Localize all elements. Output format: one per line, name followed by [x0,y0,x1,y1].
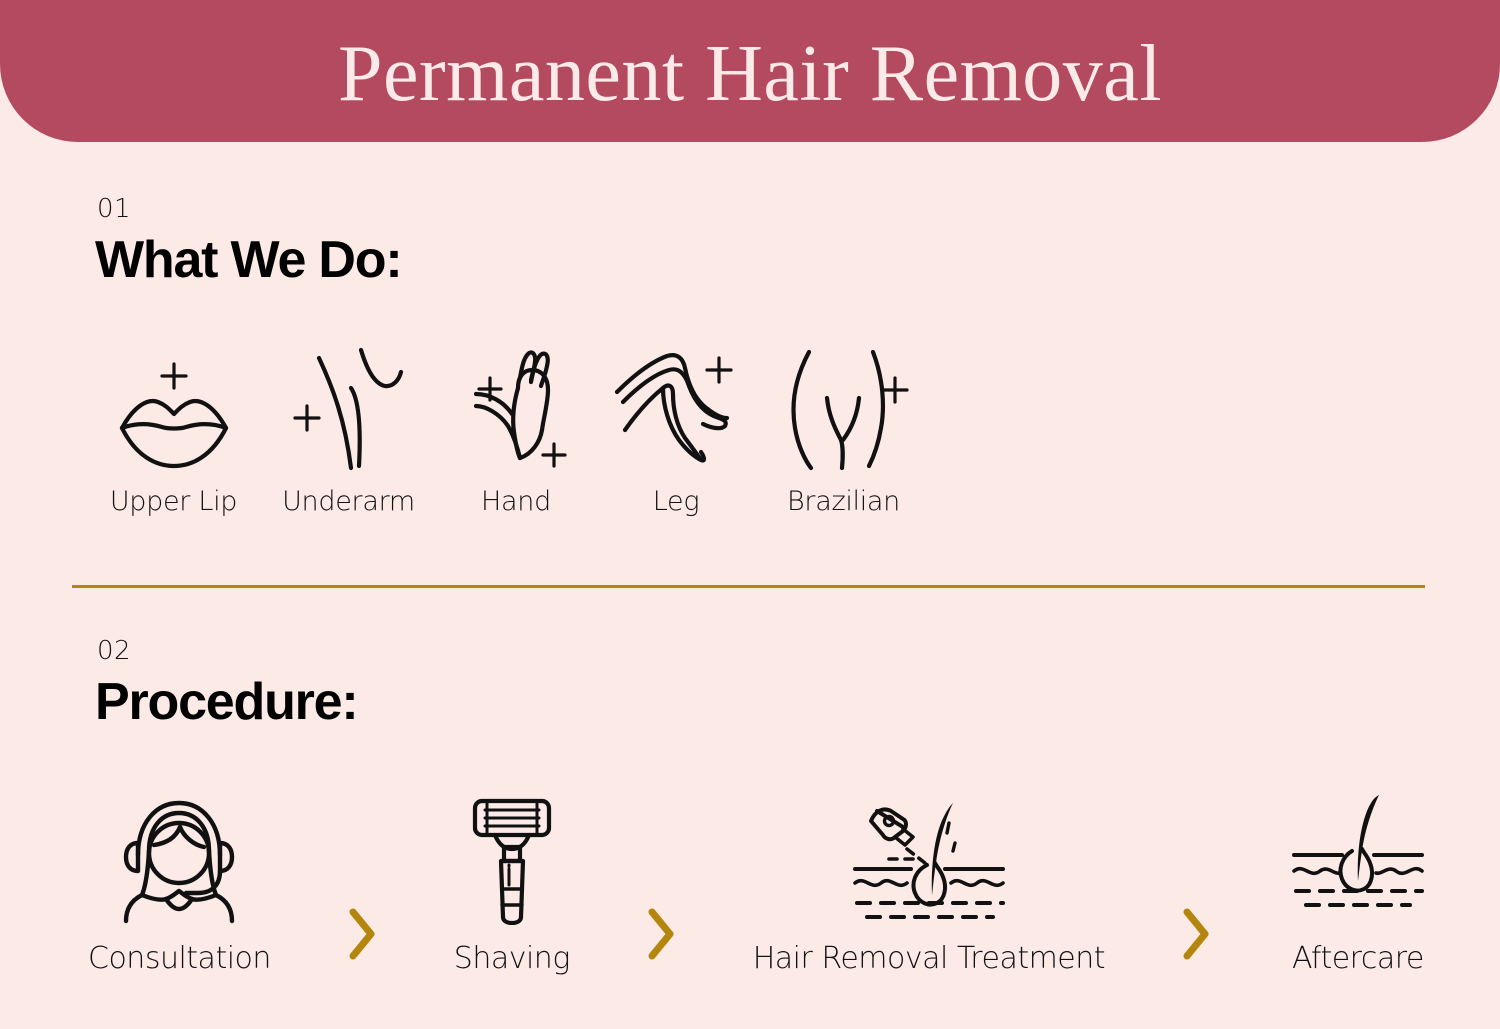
follicle-skin-icon [1288,790,1428,925]
service-label: Underarm [282,486,415,517]
procedure-step-hair-removal-treatment[interactable]: Hair Removal Treatment [753,790,1105,976]
lips-icon [114,342,234,472]
procedure-label: Consultation [88,941,271,976]
page-title: Permanent Hair Removal [338,22,1162,114]
chevron-right-icon [644,906,678,976]
laser-follicle-icon [849,790,1009,925]
chevron-right-icon [345,906,379,976]
arm-icon [456,342,576,472]
service-item-hand[interactable]: Hand [436,342,596,517]
razor-icon [457,790,567,925]
legs-icon [611,342,741,472]
section-divider [72,585,1425,588]
section-procedure: 02 Procedure: [95,638,358,728]
section-heading-what-we-do: What We Do: [95,234,401,286]
underarm-icon [289,342,409,472]
procedure-step-aftercare[interactable]: Aftercare [1288,790,1428,976]
service-list: Upper Lip Underarm [86,342,931,517]
service-item-leg[interactable]: Leg [596,342,756,517]
section-number-01: 01 [97,196,401,222]
service-label: Upper Lip [110,486,237,517]
service-label: Brazilian [787,486,900,517]
procedure-step-consultation[interactable]: Consultation [88,790,271,976]
service-label: Leg [653,486,699,517]
section-what-we-do: 01 What We Do: [95,196,401,286]
procedure-label: Hair Removal Treatment [753,941,1105,976]
header-banner: Permanent Hair Removal [0,0,1500,142]
procedure-label: Aftercare [1292,941,1424,976]
section-number-02: 02 [97,638,358,664]
procedure-step-shaving[interactable]: Shaving [454,790,570,976]
service-item-underarm[interactable]: Underarm [261,342,436,517]
service-item-upper-lip[interactable]: Upper Lip [86,342,261,517]
bikini-icon [779,342,909,472]
service-label: Hand [481,486,551,517]
procedure-steps: Consultation [88,790,1428,976]
section-heading-procedure: Procedure: [95,676,358,728]
procedure-label: Shaving [454,941,570,976]
chevron-right-icon [1179,906,1213,976]
consultant-headset-icon [116,790,242,925]
service-item-brazilian[interactable]: Brazilian [756,342,931,517]
